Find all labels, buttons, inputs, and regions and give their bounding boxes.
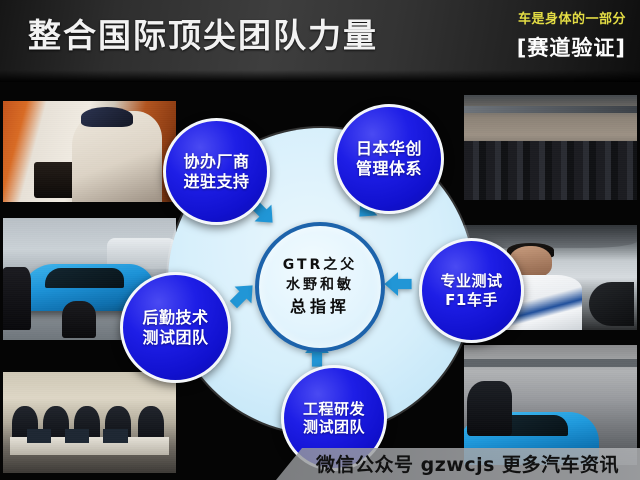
- header-tagline: 车是身体的一部分: [518, 8, 626, 27]
- center-line-1: GTR之父: [283, 255, 358, 275]
- arrow-from-right-icon: [381, 267, 415, 301]
- bubble-logistics-test-team[interactable]: 后勤技术 测试团队: [120, 272, 231, 383]
- bubble-tl-line1: 协办厂商: [183, 152, 249, 172]
- bubble-tl-line2: 进驻支持: [183, 172, 249, 192]
- bubble-bl-line1: 后勤技术: [142, 308, 208, 328]
- bubble-tr-line2: 管理体系: [356, 159, 422, 179]
- bubble-b-line1: 工程研发: [303, 400, 365, 418]
- blue-car-inspection-photo: [464, 345, 637, 465]
- bubble-f1-test-driver[interactable]: 专业测试 F1车手: [419, 238, 524, 343]
- header-bar: 整合国际顶尖团队力量 车是身体的一部分 [赛道验证]: [0, 0, 640, 82]
- watermark-text: 微信公众号 gzwcjs 更多汽车资讯: [316, 452, 640, 478]
- bubble-tr-line1: 日本华创: [356, 139, 422, 159]
- technician-workbench-photo: [3, 101, 176, 202]
- bubble-bl-line2: 测试团队: [142, 328, 208, 348]
- bubble-r-line1: 专业测试: [440, 272, 502, 290]
- bubble-partner-suppliers[interactable]: 协办厂商 进驻支持: [163, 118, 270, 225]
- page-title: 整合国际顶尖团队力量: [28, 17, 378, 55]
- garage-crowd-photo: [464, 95, 637, 200]
- slide-canvas: 整合国际顶尖团队力量 车是身体的一部分 [赛道验证] GTR之父: [0, 0, 640, 480]
- engineering-team-laptops-photo: [3, 372, 176, 473]
- bubble-japan-management-system[interactable]: 日本华创 管理体系: [334, 104, 444, 214]
- bubble-r-line2: F1车手: [440, 291, 502, 309]
- center-line-3: 总指挥: [290, 295, 350, 319]
- bubble-b-line2: 测试团队: [303, 418, 365, 436]
- center-line-2: 水野和敏: [286, 275, 354, 295]
- center-leader-circle: GTR之父 水野和敏 总指挥: [255, 222, 385, 352]
- header-badge: [赛道验证]: [517, 32, 626, 62]
